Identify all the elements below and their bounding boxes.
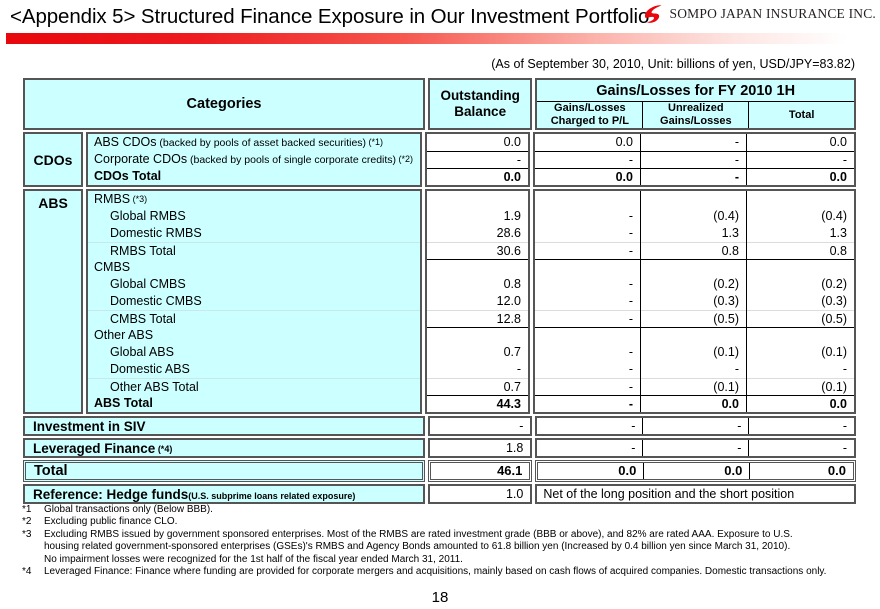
summary-row-gains: --- [535, 416, 856, 436]
table-cell-value: - [535, 276, 640, 293]
table-cell-value: - [747, 361, 854, 378]
footnote-marker: *4 [22, 566, 44, 578]
row-name: Total [34, 463, 68, 479]
row-name: ABS Total [94, 396, 153, 410]
table-group: CDOsABS CDOs (backed by pools of asset b… [23, 132, 856, 187]
footnote-text: Leveraged Finance: Finance where funding… [44, 566, 878, 578]
table-cell-value [747, 259, 854, 276]
structured-finance-exposure-table: Categories OutstandingBalance Gains/Loss… [23, 78, 856, 504]
table-cell-value: - [535, 208, 640, 225]
table-cell-value: - [427, 151, 528, 168]
as-of-note: (As of September 30, 2010, Unit: billion… [491, 57, 855, 71]
table-cell-value [427, 259, 528, 276]
row-name: Leveraged Finance [33, 441, 155, 456]
gains-charged-pl-column: 0.0-0.0 [535, 134, 641, 185]
table-cell-value: 0.8 [427, 276, 528, 293]
summary-unrealized: - [643, 440, 749, 456]
group-balance-column: 1.928.630.60.812.012.80.7-0.744.3 [425, 189, 530, 414]
table-cell-value: - [535, 395, 640, 412]
footnote-marker: *1 [22, 504, 44, 516]
footnote-line: *4Leveraged Finance: Finance where fundi… [22, 566, 878, 578]
table-cell-value: 44.3 [427, 395, 528, 412]
row-name: Global ABS [110, 345, 174, 359]
summary-unrealized: - [643, 418, 749, 434]
table-cell-value: - [535, 361, 640, 378]
column-header-categories: Categories [23, 78, 425, 130]
footnote-continuation: No impairment losses were recognized for… [22, 554, 878, 566]
table-row-label: ABS Total [88, 395, 420, 412]
brand-name: SOMPO JAPAN INSURANCE INC. [670, 6, 877, 22]
table-cell-value: 0.8 [747, 242, 854, 259]
table-cell-value: 0.0 [535, 168, 640, 185]
summary-row-gains: --- [535, 438, 856, 458]
table-row-label: Corporate CDOs (backed by pools of singl… [88, 151, 420, 168]
group-gains-column: 0.0-0.0---0.0-0.0 [533, 132, 856, 187]
table-cell-value: (0.5) [747, 310, 854, 327]
table-cell-value: 0.0 [427, 168, 528, 185]
group-balance-column: 0.0-0.0 [425, 132, 530, 187]
table-cell-value: 12.0 [427, 293, 528, 310]
table-cell-value: - [427, 361, 528, 378]
row-name: Domestic CMBS [110, 294, 202, 308]
summary-row-balance: 1.8 [428, 438, 532, 458]
column-header-gains-losses-title: Gains/Losses for FY 2010 1H [537, 80, 854, 102]
summary-row-balance: 46.1 [428, 460, 532, 482]
summary-total: - [749, 418, 854, 434]
row-name: Other ABS Total [110, 380, 199, 394]
table-row-label: RMBS (*3) [88, 191, 420, 208]
footnote-line: *1Global transactions only (Below BBB). [22, 504, 878, 516]
row-name: Other ABS [94, 328, 153, 342]
header-divider [6, 33, 874, 44]
table-cell-value: 0.0 [747, 168, 854, 185]
table-row-label: CMBS Total [88, 310, 420, 327]
summary-charged-pl: - [537, 418, 643, 434]
table-cell-value: (0.4) [747, 208, 854, 225]
table-cell-value: 0.8 [641, 242, 746, 259]
table-cell-value: 1.3 [641, 225, 746, 242]
summary-unrealized: 0.0 [644, 463, 750, 479]
table-cell-value [747, 191, 854, 208]
table-cell-value [535, 259, 640, 276]
table-cell-value: 0.7 [427, 378, 528, 395]
table-cell-value: (0.2) [747, 276, 854, 293]
summary-row-gains: 0.00.00.0 [535, 460, 856, 482]
row-name: CDOs Total [94, 169, 161, 183]
footnote-text: Excluding RMBS issued by government spon… [44, 529, 878, 541]
group-label: CDOs [23, 132, 83, 187]
gains-total-column: (0.4)1.30.8(0.2)(0.3)(0.5)(0.1)-(0.1)0.0 [747, 191, 854, 412]
column-header-total: Total [749, 102, 854, 128]
table-row-label: Domestic ABS [88, 361, 420, 378]
row-name: Investment in SIV [33, 419, 146, 434]
table-cell-value: - [535, 293, 640, 310]
table-cell-value: (0.5) [641, 310, 746, 327]
table-cell-value [427, 191, 528, 208]
footnote-line: *3Excluding RMBS issued by government sp… [22, 529, 878, 541]
table-cell-value: 0.0 [747, 395, 854, 412]
row-name: Global RMBS [110, 209, 186, 223]
grand-total-row: Total46.10.00.00.0 [23, 460, 856, 482]
gains-charged-pl-column: ---------- [535, 191, 641, 412]
summary-total: - [749, 440, 854, 456]
table-cell-value: (0.1) [641, 344, 746, 361]
table-row-label: ABS CDOs (backed by pools of asset backe… [88, 134, 420, 151]
table-cell-value: - [641, 151, 746, 168]
table-row-label: Other ABS Total [88, 378, 420, 395]
row-description: (backed by pools of asset backed securit… [157, 137, 367, 149]
summary-row-label: Total [23, 460, 425, 482]
gains-total-column: 0.0-0.0 [747, 134, 854, 185]
row-footnote-marker: (*1) [366, 137, 383, 147]
table-cell-value: 0.0 [535, 134, 640, 151]
table-cell-value: - [535, 310, 640, 327]
table-cell-value: - [535, 378, 640, 395]
row-footnote-marker: (*3) [130, 194, 147, 204]
footnote-marker: *2 [22, 516, 44, 528]
table-cell-value: 1.3 [747, 225, 854, 242]
row-footnote-marker: (*4) [155, 444, 172, 454]
page-title: <Appendix 5> Structured Finance Exposure… [10, 5, 649, 29]
group-label: ABS [23, 189, 83, 414]
footnote-continuation: housing related government-sponsored ent… [22, 541, 878, 553]
row-name: Corporate CDOs [94, 152, 187, 166]
reference-hedge-funds-row: Reference: Hedge funds(U.S. subprime loa… [23, 484, 856, 504]
table-group: ABSRMBS (*3)Global RMBSDomestic RMBSRMBS… [23, 189, 856, 414]
table-cell-value: 0.0 [427, 134, 528, 151]
table-cell-value: - [747, 151, 854, 168]
table-cell-value: (0.2) [641, 276, 746, 293]
group-gains-column: ----------(0.4)1.30.8(0.2)(0.3)(0.5)(0.1… [533, 189, 856, 414]
table-cell-value [641, 259, 746, 276]
brand-logo: SOMPO JAPAN INSURANCE INC. [642, 3, 877, 25]
table-cell-value: 0.0 [641, 395, 746, 412]
group-name-column: RMBS (*3)Global RMBSDomestic RMBSRMBS To… [86, 189, 422, 414]
table-cell-value: 30.6 [427, 242, 528, 259]
gains-unrealized-column: --- [641, 134, 747, 185]
table-cell-value: (0.1) [641, 378, 746, 395]
summary-row-label: Leveraged Finance (*4) [23, 438, 425, 458]
table-cell-value [535, 191, 640, 208]
row-name: RMBS Total [110, 244, 176, 258]
table-cell-value [535, 327, 640, 344]
table-cell-value: (0.3) [747, 293, 854, 310]
table-row-label: Domestic RMBS [88, 225, 420, 242]
row-name: Domestic ABS [110, 362, 190, 376]
table-cell-value: - [535, 242, 640, 259]
table-row-label: CDOs Total [88, 168, 420, 185]
table-row-label: Other ABS [88, 327, 420, 344]
table-cell-value: - [641, 134, 746, 151]
table-cell-value: (0.1) [747, 344, 854, 361]
reference-row-label: Reference: Hedge funds(U.S. subprime loa… [23, 484, 425, 504]
table-cell-value [641, 191, 746, 208]
footnotes: *1Global transactions only (Below BBB).*… [22, 504, 878, 578]
table-cell-value: 28.6 [427, 225, 528, 242]
row-name: CMBS Total [110, 312, 176, 326]
table-row-label: Global CMBS [88, 276, 420, 293]
table-body: CDOsABS CDOs (backed by pools of asset b… [23, 132, 856, 414]
table-cell-value: - [641, 361, 746, 378]
table-row-label: Domestic CMBS [88, 293, 420, 310]
table-cell-value: - [535, 225, 640, 242]
reference-row-subtext: (U.S. subprime loans related exposure) [188, 491, 355, 501]
summary-row: Investment in SIV---- [23, 416, 856, 436]
table-cell-value [427, 327, 528, 344]
table-cell-value: 1.9 [427, 208, 528, 225]
gains-unrealized-column: (0.4)1.30.8(0.2)(0.3)(0.5)(0.1)-(0.1)0.0 [641, 191, 747, 412]
table-cell-value: - [535, 344, 640, 361]
summary-charged-pl: - [537, 440, 643, 456]
footnote-marker: *3 [22, 529, 44, 541]
table-cell-value: - [641, 168, 746, 185]
table-cell-value [641, 327, 746, 344]
row-name: ABS CDOs [94, 135, 157, 149]
table-cell-value: - [535, 151, 640, 168]
row-name: CMBS [94, 260, 130, 274]
table-cell-value: (0.1) [747, 378, 854, 395]
row-name: RMBS [94, 192, 130, 206]
table-row-label: CMBS [88, 259, 420, 276]
table-row-label: Global RMBS [88, 208, 420, 225]
footnote-text: Excluding public finance CLO. [44, 516, 878, 528]
table-row-label: Global ABS [88, 344, 420, 361]
group-name-column: ABS CDOs (backed by pools of asset backe… [86, 132, 422, 187]
reference-row-name: Reference: Hedge funds [33, 487, 188, 502]
summary-row-label: Investment in SIV [23, 416, 425, 436]
row-description: (backed by pools of single corporate cre… [187, 154, 396, 166]
footnote-line: *2Excluding public finance CLO. [22, 516, 878, 528]
page-number: 18 [0, 589, 880, 606]
column-header-charged-to-pl: Gains/LossesCharged to P/L [537, 102, 643, 128]
table-cell-value: (0.3) [641, 293, 746, 310]
table-cell-value: 0.7 [427, 344, 528, 361]
summary-row: Leveraged Finance (*4)1.8--- [23, 438, 856, 458]
reference-row-balance: 1.0 [428, 484, 532, 504]
table-header-row: Categories OutstandingBalance Gains/Loss… [23, 78, 856, 130]
sompo-flame-icon [642, 3, 664, 25]
table-summary-rows: Investment in SIV----Leveraged Finance (… [23, 416, 856, 482]
column-header-gains-losses-group: Gains/Losses for FY 2010 1H Gains/Losses… [535, 78, 856, 130]
row-name: Global CMBS [110, 277, 186, 291]
column-header-unrealized: UnrealizedGains/Losses [643, 102, 749, 128]
table-row-label: RMBS Total [88, 242, 420, 259]
table-cell-value: 12.8 [427, 310, 528, 327]
summary-total: 0.0 [750, 463, 853, 479]
summary-charged-pl: 0.0 [538, 463, 644, 479]
column-header-outstanding-balance: OutstandingBalance [428, 78, 532, 130]
summary-row-balance: - [428, 416, 532, 436]
footnote-text: Global transactions only (Below BBB). [44, 504, 878, 516]
row-footnote-marker: (*2) [396, 154, 413, 164]
reference-row-note: Net of the long position and the short p… [535, 484, 856, 504]
table-cell-value: 0.0 [747, 134, 854, 151]
row-name: Domestic RMBS [110, 226, 202, 240]
table-cell-value: (0.4) [641, 208, 746, 225]
table-cell-value [747, 327, 854, 344]
